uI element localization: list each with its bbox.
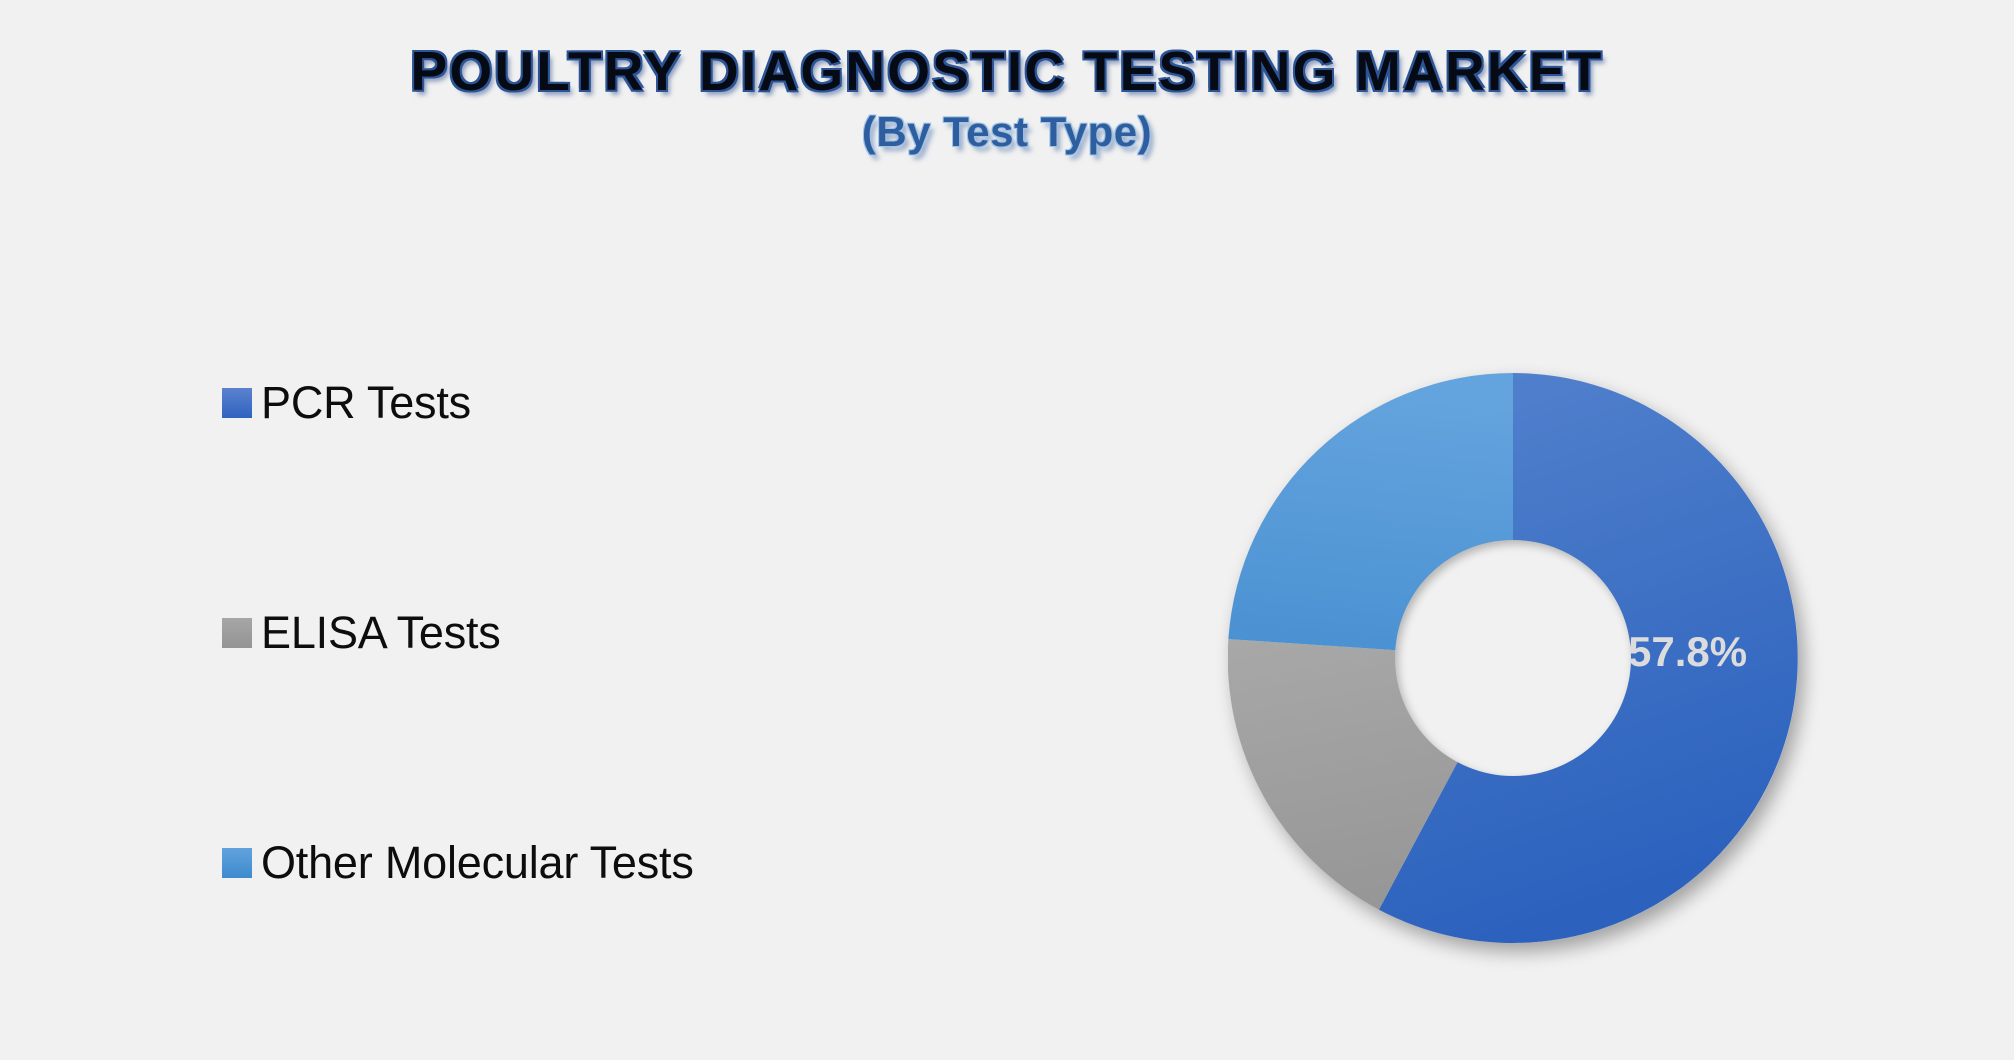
donut-center-hole [1395, 540, 1631, 776]
square-swatch-icon [222, 618, 252, 648]
square-swatch-icon [222, 848, 252, 878]
legend-item-label: Other Molecular Tests [261, 837, 694, 889]
legend-item-label: PCR Tests [261, 377, 471, 429]
legend-item-other-molecular-tests[interactable]: Other Molecular Tests [222, 832, 694, 894]
slice-label-pcr-tests: 57.8% [1628, 628, 1747, 676]
legend-item-label: ELISA Tests [261, 607, 501, 659]
square-swatch-icon [222, 388, 252, 418]
legend-item-pcr-tests[interactable]: PCR Tests [222, 372, 694, 434]
legend-item-elisa-tests[interactable]: ELISA Tests [222, 602, 694, 664]
title-block: POULTRY DIAGNOSTIC TESTING MARKET (By Te… [0, 44, 2014, 153]
chart-legend: PCR Tests ELISA Tests Other Molecular Te… [222, 372, 694, 894]
donut-chart: 57.8% [1228, 373, 1798, 943]
page-title: POULTRY DIAGNOSTIC TESTING MARKET [0, 44, 2014, 99]
page-subtitle: (By Test Type) [0, 111, 2014, 153]
donut-chart-figure: POULTRY DIAGNOSTIC TESTING MARKET (By Te… [0, 0, 2014, 1060]
